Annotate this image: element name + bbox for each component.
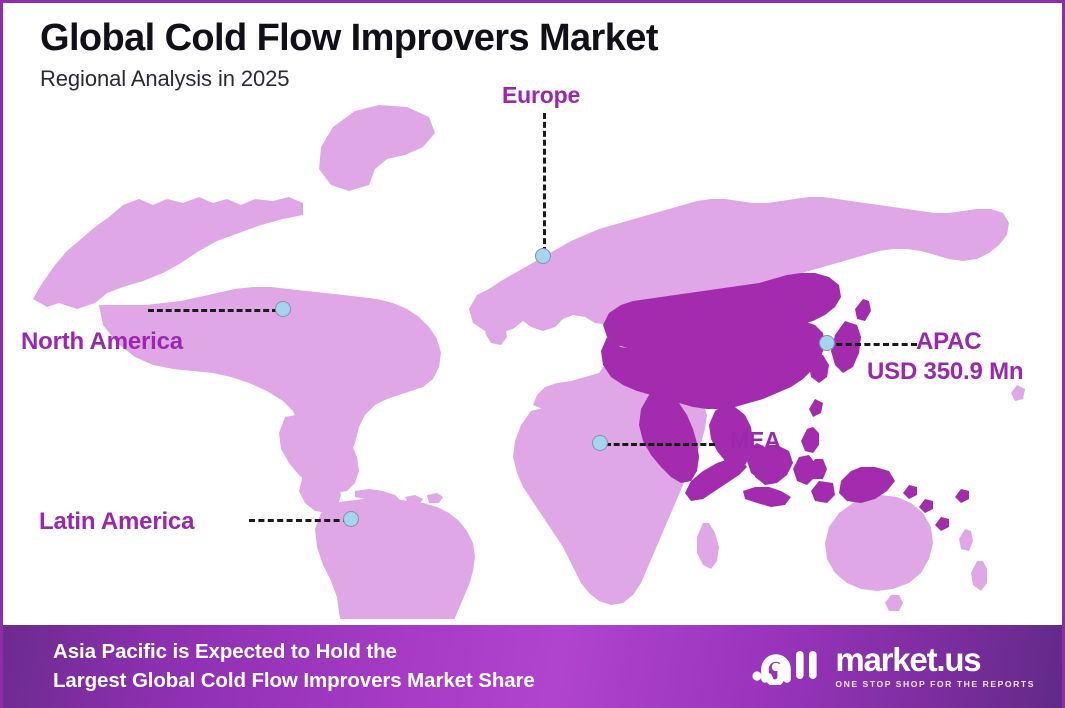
- leader-line-north-america: [148, 309, 278, 312]
- map-marker-apac[interactable]: [819, 335, 835, 351]
- region-label-europe[interactable]: Europe: [502, 82, 580, 109]
- region-label-apac-name: APAC: [916, 328, 981, 355]
- leader-line-mea: [605, 443, 715, 446]
- header: Global Cold Flow Improvers Market Region…: [40, 17, 940, 92]
- footer-headline-line1: Asia Pacific is Expected to Hold the: [53, 638, 535, 666]
- infographic-root: Global Cold Flow Improvers Market Region…: [0, 0, 1065, 708]
- footer-headline: Asia Pacific is Expected to Hold the Lar…: [53, 638, 535, 695]
- market-us-logo-icon: [751, 643, 825, 690]
- map-marker-latin-america[interactable]: [343, 511, 359, 527]
- leader-line-apac: [827, 343, 917, 346]
- footer-banner: Asia Pacific is Expected to Hold the Lar…: [3, 625, 1065, 708]
- region-label-latin-america[interactable]: Latin America: [39, 508, 194, 536]
- leader-line-latin-america: [249, 519, 349, 522]
- region-label-mea[interactable]: MEA: [730, 427, 781, 454]
- map-marker-europe[interactable]: [535, 248, 551, 264]
- map-marker-north-america[interactable]: [275, 301, 291, 317]
- footer-headline-line2: Largest Global Cold Flow Improvers Marke…: [53, 667, 535, 695]
- map-marker-mea[interactable]: [592, 435, 608, 451]
- page-subtitle: Regional Analysis in 2025: [40, 66, 940, 92]
- region-value-apac: USD 350.9 Mn: [867, 358, 1023, 386]
- region-label-apac[interactable]: APAC USD 350.9 Mn: [916, 328, 1023, 386]
- logo-tagline: ONE STOP SHOP FOR THE REPORTS: [835, 679, 1035, 689]
- leader-line-europe: [543, 113, 546, 253]
- page-title: Global Cold Flow Improvers Market: [40, 17, 940, 60]
- region-label-north-america[interactable]: North America: [21, 328, 183, 356]
- market-us-logo[interactable]: market.us ONE STOP SHOP FOR THE REPORTS: [751, 643, 1035, 690]
- market-us-logo-text: market.us ONE STOP SHOP FOR THE REPORTS: [835, 644, 1035, 688]
- logo-wordmark: market.us: [835, 644, 1035, 675]
